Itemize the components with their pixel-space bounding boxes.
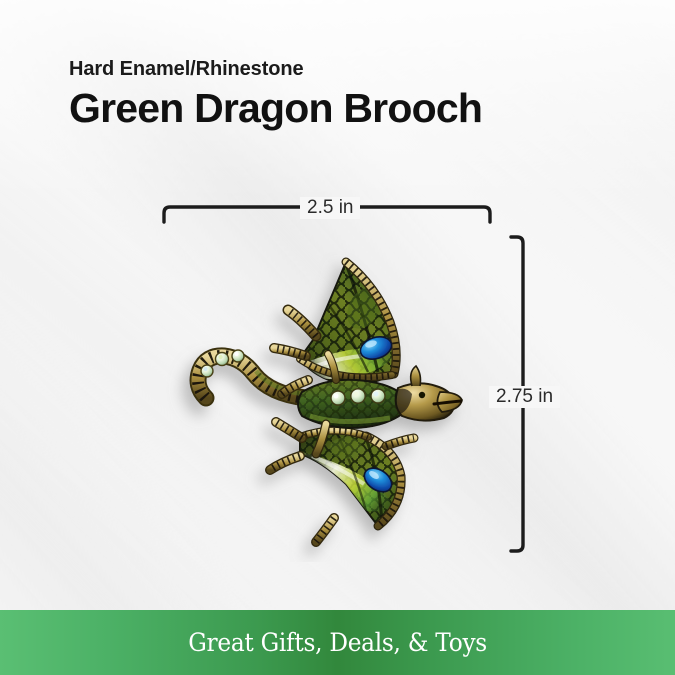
dragon-brooch-illustration <box>150 222 490 562</box>
footer-tagline: Great Gifts, Deals, & Toys <box>188 628 487 657</box>
dragon-upper-wing <box>274 252 415 397</box>
product-title: Green Dragon Brooch <box>69 86 482 132</box>
product-image <box>150 222 490 562</box>
rhinestones-spine <box>331 389 385 405</box>
dragon-head <box>395 366 462 421</box>
dragon-lower-wing <box>270 417 415 542</box>
brooch-body-group <box>198 252 462 542</box>
product-subtitle: Hard Enamel/Rhinestone <box>69 58 482 80</box>
product-image-card: Hard Enamel/Rhinestone Green Dragon Broo… <box>0 0 675 675</box>
header: Hard Enamel/Rhinestone Green Dragon Broo… <box>69 58 482 132</box>
footer-banner: Great Gifts, Deals, & Toys <box>0 610 675 675</box>
